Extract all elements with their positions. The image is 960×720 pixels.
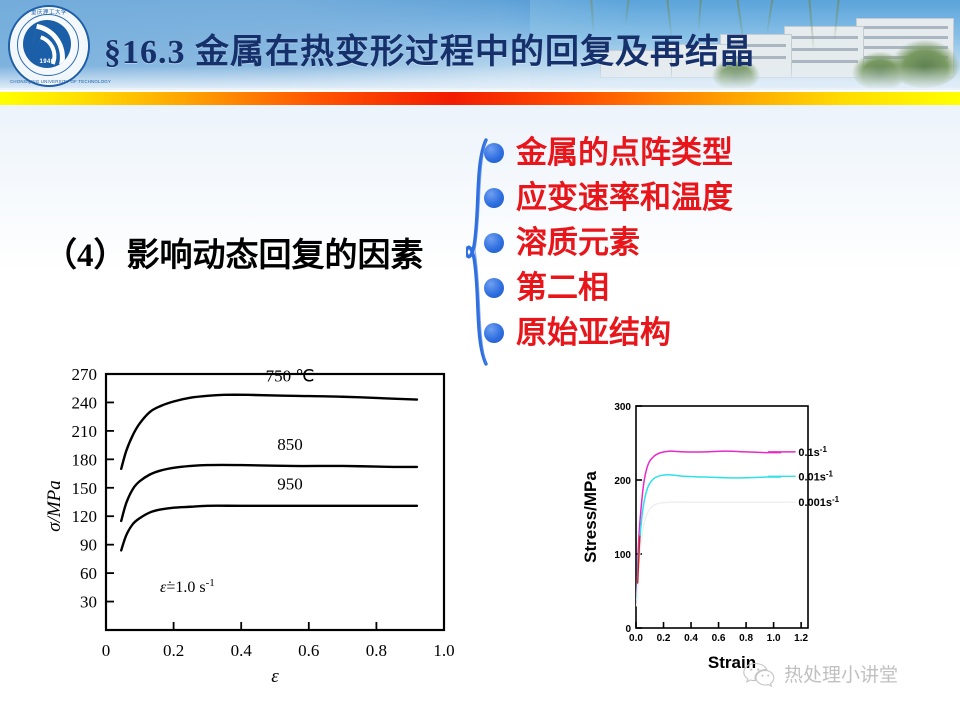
svg-text:ε: ε [271,666,279,687]
svg-text:0.6: 0.6 [712,633,726,644]
bullet-label: 金属的点阵类型 [516,137,733,168]
logo-year: 1940 [23,59,71,65]
list-item[interactable]: 金属的点阵类型 [484,130,834,175]
svg-text:0.0: 0.0 [629,633,643,644]
svg-text:0.1s-1: 0.1s-1 [798,444,827,459]
svg-text:240: 240 [72,393,98,412]
svg-text:90: 90 [80,536,97,555]
chart-flow-curves-temperature: 30609012015018021024027000.20.40.60.81.0… [40,360,460,700]
divider-gradient-bar [0,92,960,105]
university-logo: 重庆理工大学 1940 CHONGQING UNIVERSITY OF TECH… [8,5,90,87]
svg-text:0.8: 0.8 [366,641,387,660]
svg-text:1.0: 1.0 [767,633,781,644]
svg-text:Stress/MPa: Stress/MPa [581,471,600,563]
svg-text:180: 180 [72,450,98,469]
svg-text:ε̇=1.0 s-1: ε̇=1.0 s-1 [160,577,215,596]
svg-text:750 ℃: 750 ℃ [266,367,315,386]
svg-text:0.6: 0.6 [298,641,319,660]
logo-disc: 1940 [23,20,71,68]
svg-text:100: 100 [614,550,631,561]
svg-text:0: 0 [102,641,111,660]
bullet-dot-icon [484,323,504,343]
svg-text:60: 60 [80,564,97,583]
svg-text:0.4: 0.4 [231,641,253,660]
svg-text:0.2: 0.2 [163,641,184,660]
bullet-label: 应变速率和温度 [516,182,733,213]
bullet-dot-icon [484,143,504,163]
bullet-list: 金属的点阵类型 应变速率和温度 溶质元素 第二相 原始亚结构 [484,130,834,355]
svg-text:850: 850 [277,435,303,454]
bullet-dot-icon [484,233,504,253]
bullet-label: 第二相 [516,272,609,303]
svg-text:950: 950 [277,475,303,494]
watermark-text: 热处理小讲堂 [784,660,898,687]
list-item[interactable]: 原始亚结构 [484,310,834,355]
svg-text:210: 210 [72,422,98,441]
svg-text:0.8: 0.8 [739,633,753,644]
watermark: 热处理小讲堂 [742,660,898,687]
bullet-dot-icon [484,188,504,208]
svg-text:300: 300 [614,402,631,413]
chart-flow-curves-strain-rate: 01002003000.00.20.40.60.81.01.2Stress/MP… [578,392,898,692]
page-title: §16.3 金属在热变形过程中的回复及再结晶 [104,24,755,73]
bullet-label: 溶质元素 [516,227,640,258]
list-item[interactable]: 应变速率和温度 [484,175,834,220]
logo-name-cn: 重庆理工大学 [10,8,88,16]
slide-canvas: 重庆理工大学 1940 CHONGQING UNIVERSITY OF TECH… [0,0,960,720]
bullet-label: 原始亚结构 [516,317,671,348]
svg-text:0.01s-1: 0.01s-1 [798,469,833,484]
svg-text:0.001s-1: 0.001s-1 [798,495,839,510]
svg-text:200: 200 [614,476,631,487]
svg-text:0.4: 0.4 [684,633,698,644]
svg-text:0.2: 0.2 [657,633,671,644]
svg-text:1.2: 1.2 [794,633,808,644]
svg-text:120: 120 [72,507,98,526]
logo-name-en: CHONGQING UNIVERSITY OF TECHNOLOGY [10,79,88,84]
svg-text:150: 150 [72,479,98,498]
list-item[interactable]: 第二相 [484,265,834,310]
svg-text:1.0: 1.0 [433,641,454,660]
section-heading: （4）影响动态回复的因素 [44,228,424,276]
bullet-dot-icon [484,278,504,298]
svg-text:30: 30 [80,593,97,612]
svg-text:σ/MPa: σ/MPa [44,480,65,532]
wechat-icon [742,661,776,687]
list-item[interactable]: 溶质元素 [484,220,834,265]
svg-text:270: 270 [72,365,98,384]
slide-header-banner: 重庆理工大学 1940 CHONGQING UNIVERSITY OF TECH… [0,0,960,88]
